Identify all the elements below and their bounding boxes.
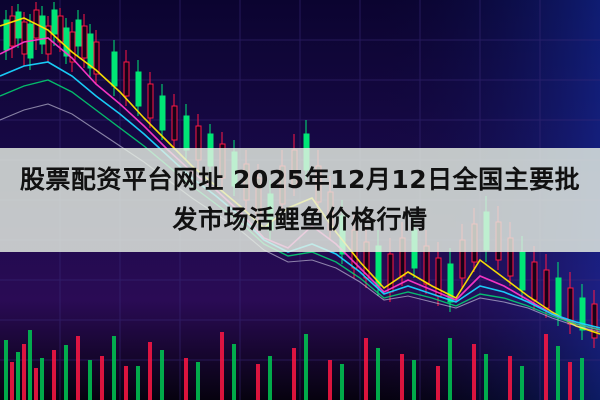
- headline-banner: 股票配资平台网址 2025年12月12日全国主要批发市场活鲤鱼价格行情: [0, 148, 600, 252]
- page-title: 股票配资平台网址 2025年12月12日全国主要批发市场活鲤鱼价格行情: [18, 160, 582, 240]
- screenshot-root: 股票配资平台网址 2025年12月12日全国主要批发市场活鲤鱼价格行情: [0, 0, 600, 400]
